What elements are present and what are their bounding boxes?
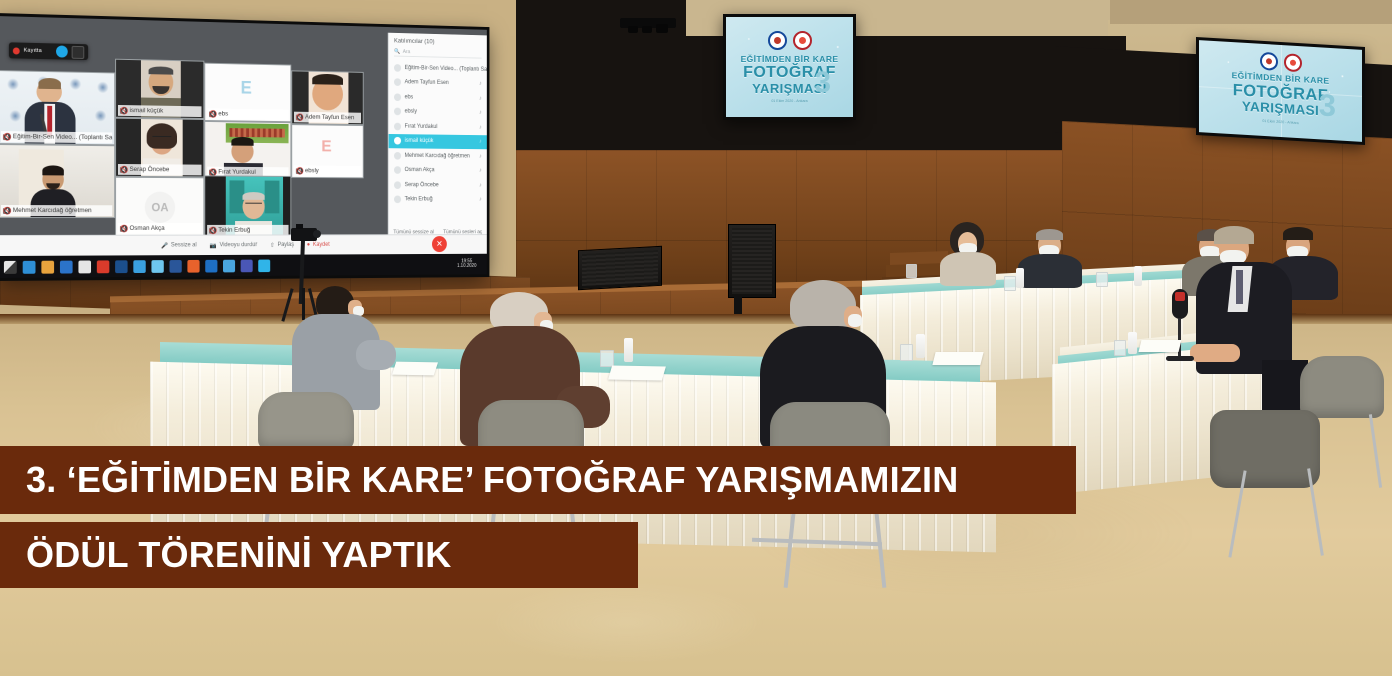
participant-name: ismail küçük [405, 138, 434, 144]
necktie [1236, 270, 1243, 304]
water-bottle [624, 338, 633, 362]
participant-name: Eğitim-Bir-Sen Video... (Toplantı Sahibi… [405, 65, 487, 73]
taskbar-apps[interactable] [23, 259, 271, 273]
video-tile[interactable]: E ebs 🔇 [204, 63, 291, 123]
hair [1214, 226, 1254, 244]
mute-icon[interactable]: ♪ [479, 168, 482, 174]
microphone-icon: 🎤 [161, 242, 168, 249]
wall-display-projector-screen: EĞİTİMDEN BİR KARE FOTOĞRAF YARIŞMASI 3 … [726, 17, 853, 117]
edge-dev-icon[interactable] [133, 260, 145, 273]
teams-icon[interactable] [241, 259, 253, 272]
share-icon: ⇧ [270, 242, 275, 249]
ministry-logo-icon [1260, 52, 1278, 71]
record-dot-icon: ● [307, 242, 310, 248]
participant-name: Fırat Yurdakul [405, 124, 438, 130]
mute-icon: 🔇 [296, 113, 304, 121]
participant-name: Tekin Erbuğ [405, 197, 433, 203]
wall-display-title-1: FOTOĞRAF [726, 65, 853, 81]
participant-hair [243, 192, 265, 200]
wall-display-videowall: EĞİTİMDEN BİR KARE FOTOĞRAF YARIŞMASI 3 … [1196, 37, 1365, 145]
chair [1210, 410, 1320, 488]
mute-icon: 🔇 [296, 167, 304, 175]
participant-row[interactable]: ebsly♪ [389, 104, 487, 120]
mail-icon[interactable] [60, 260, 73, 273]
chair [258, 392, 354, 450]
windows-taskbar: 19:55 1.10.2020 [0, 254, 487, 278]
wall-trim [1110, 0, 1392, 24]
water-glass [900, 344, 913, 361]
mute-icon: 🔇 [120, 106, 128, 114]
stop-video-button[interactable]: 📷 Videoyu durdur [210, 242, 257, 249]
wall-display-subtitle: EĞİTİMDEN BİR KARE [726, 55, 853, 64]
video-tile-name: ebs 🔇 [207, 108, 288, 120]
camera-handle [296, 224, 303, 229]
record-button[interactable]: ● Kaydet [307, 242, 330, 248]
system-clock[interactable]: 19:55 1.10.2020 [457, 259, 480, 269]
clock-date: 1.10.2020 [457, 263, 476, 269]
video-tile[interactable]: E ebsly 🔇 [291, 124, 363, 178]
recording-indicator: Kayıtta [9, 42, 88, 60]
wall-display-projector: EĞİTİMDEN BİR KARE FOTOĞRAF YARIŞMASI 3 … [723, 14, 856, 120]
participant-hair [231, 137, 253, 146]
mute-button[interactable]: 🎤 Sessize al [161, 242, 197, 249]
headline-text-line1: 3. ‘EĞİTİMDEN BİR KARE’ FOTOĞRAF YARIŞMA… [26, 459, 958, 501]
mute-icon: 🔇 [3, 207, 12, 215]
video-tile-name: Eğitim-Bir-Sen Video... (Toplantı Sahibi… [1, 131, 112, 143]
video-tile[interactable]: ismail küçük 🔇 [115, 59, 204, 119]
participant-name: Serap Öncebe [405, 182, 439, 188]
mute-icon[interactable]: ♪ [479, 154, 482, 160]
stage-speaker [578, 246, 662, 290]
participant-row[interactable]: Fırat Yurdakul♪ [389, 119, 487, 135]
windows-start-icon[interactable] [4, 260, 17, 273]
participant-hair [312, 74, 343, 85]
chrome-icon[interactable] [97, 260, 110, 273]
video-tile-name: ebsly 🔇 [294, 165, 361, 176]
water-glass [1096, 272, 1108, 287]
mute-icon[interactable]: ♪ [479, 139, 482, 145]
stage-speaker [728, 224, 776, 298]
videowall-edition-number: 3 [1319, 89, 1336, 121]
end-meeting-button[interactable]: ✕ [432, 236, 447, 252]
avatar [394, 152, 401, 160]
mute-icon[interactable]: ♪ [479, 183, 482, 189]
water-glass [906, 264, 917, 278]
hair [1036, 229, 1063, 240]
mute-icon: 🔇 [3, 133, 12, 141]
union-logo-icon [793, 31, 812, 50]
projection-screen: Eğitim-Bir-Sen Video... (Toplantı Sahibi… [0, 16, 487, 278]
headline-text-line2: ÖDÜL TÖRENİNİ YAPTIK [26, 534, 451, 576]
arm [356, 340, 396, 370]
headline-banner-line1: 3. ‘EĞİTİMDEN BİR KARE’ FOTOĞRAF YARIŞMA… [0, 446, 1076, 514]
document-sheet [392, 362, 438, 376]
avatar-letter: E [241, 78, 258, 100]
avatar: OA [145, 192, 175, 223]
ministry-logo-icon [768, 31, 787, 50]
zoom-toolbar: 🎤 Sessize al 📷 Videoyu durdur ⇧ Paylaş ●… [0, 234, 487, 256]
store-icon[interactable] [78, 260, 91, 273]
participant-name: ebsly [405, 109, 417, 115]
video-tile-name: Mehmet Karcıdağ öğretmen 🔇 [1, 205, 112, 216]
water-glass [1004, 276, 1016, 291]
wall-display-title-2: YARIŞMASI [726, 82, 853, 95]
skype-icon[interactable] [258, 259, 270, 272]
chair [1300, 356, 1384, 418]
glasses-icon [152, 136, 171, 142]
microphone-icon[interactable] [56, 45, 68, 57]
wall-display-date: 01 Ekim 2020 - Ankara [726, 99, 853, 103]
hands [1190, 344, 1240, 362]
camera-lens-icon [313, 230, 321, 238]
mute-icon[interactable]: ♪ [479, 110, 482, 116]
participant-row[interactable]: ismail küçük♪ [389, 134, 487, 150]
firefox-icon[interactable] [187, 259, 199, 272]
avatar [394, 108, 401, 116]
avatar [394, 166, 401, 174]
video-tile-name: Adem Tayfun Esen 🔇 [294, 112, 361, 124]
spotlight-icon [656, 24, 668, 33]
share-button[interactable]: ⇧ Paylaş [270, 242, 294, 249]
participants-search-input[interactable]: 🔍 Ara [394, 47, 482, 59]
avatar [394, 196, 401, 204]
edge-icon[interactable] [23, 260, 36, 273]
participant-name: Mehmet Karcıdağ öğretmen [405, 153, 470, 159]
mute-icon: 🔇 [209, 226, 217, 234]
wall-display-videowall-screen: EĞİTİMDEN BİR KARE FOTOĞRAF YARIŞMASI 3 … [1199, 40, 1362, 142]
zoom-icon[interactable] [223, 259, 235, 272]
video-tile-name: ismail küçük 🔇 [118, 105, 201, 117]
avatar [394, 64, 401, 72]
water-bottle [1016, 268, 1024, 288]
participant-row[interactable]: Serap Öncebe♪ [389, 178, 487, 193]
participant-hair [42, 165, 63, 175]
photoshop-icon[interactable] [115, 260, 127, 273]
mute-icon[interactable]: ♪ [479, 125, 482, 131]
video-tile-name: Serap Öncebe 🔇 [118, 164, 201, 175]
spotlight-icon [628, 26, 638, 33]
union-logo-icon [1284, 53, 1302, 72]
participant-name: ebs [405, 94, 414, 100]
participants-list[interactable]: Eğitim-Bir-Sen Video... (Toplantı Sahibi… [389, 60, 487, 207]
video-tile[interactable]: Serap Öncebe 🔇 [115, 118, 204, 178]
avatar [394, 79, 401, 87]
participant-row[interactable]: ebs♪ [389, 90, 487, 106]
participants-panel: Katılımcılar (10) 🔍 Ara Eğitim-Bir-Sen V… [388, 33, 487, 254]
video-tile[interactable]: OA Osman Akça 🔇 [115, 177, 204, 236]
explorer-icon[interactable] [151, 260, 163, 273]
avatar [394, 122, 401, 130]
wall-display-edition-number: 3 [814, 68, 831, 98]
avatar [394, 137, 401, 145]
video-tile[interactable]: Adem Tayfun Esen 🔇 [291, 70, 363, 125]
document-sheet [608, 366, 666, 381]
participant-row[interactable]: Mehmet Karcıdağ öğretmen♪ [389, 148, 487, 164]
video-tile[interactable]: Eğitim-Bir-Sen Video... (Toplantı Sahibi… [0, 70, 115, 145]
video-tile-name: Osman Akça 🔇 [118, 223, 201, 234]
speaker-hair [38, 78, 60, 89]
water-glass [600, 350, 614, 367]
water-bottle [916, 334, 925, 358]
participant-name: Osman Akça [405, 167, 435, 173]
search-placeholder: Ara [403, 49, 411, 55]
video-tile[interactable]: Fırat Yurdakul 🔇 [204, 121, 291, 180]
video-tile[interactable]: Mehmet Karcıdağ öğretmen 🔇 [0, 144, 115, 218]
recording-label: Kayıtta [24, 48, 42, 54]
participant-row[interactable]: Osman Akça♪ [389, 163, 487, 178]
mute-icon[interactable]: ♪ [479, 96, 482, 102]
hair [1283, 227, 1313, 240]
document-sheet [1139, 340, 1182, 352]
mute-icon: 🔇 [209, 110, 217, 118]
music-icon[interactable] [205, 259, 217, 272]
dark-wall-column [516, 0, 572, 170]
mute-icon[interactable]: ♪ [479, 81, 482, 87]
news-photo-composite: EĞİTİMDEN BİR KARE FOTOĞRAF YARIŞMASI 3 … [0, 0, 1392, 676]
water-glass [1114, 340, 1126, 356]
search-icon: 🔍 [394, 48, 400, 54]
avatar-letter: E [321, 137, 335, 156]
document-sheet [932, 352, 983, 365]
mute-icon: 🔇 [120, 224, 128, 232]
participant-row[interactable]: Tekin Erbuğ♪ [389, 192, 487, 207]
participant-hair [149, 66, 174, 74]
headline-banner-line2: ÖDÜL TÖRENİNİ YAPTIK [0, 522, 638, 588]
participant-name: Adem Tayfun Esen [405, 80, 449, 87]
camera-icon[interactable] [72, 45, 85, 58]
mute-icon[interactable]: ♪ [479, 197, 482, 203]
camera-icon: 📷 [210, 242, 217, 249]
video-tile[interactable]: Tekin Erbuğ 🔇 [204, 175, 291, 237]
mute-icon: 🔇 [120, 165, 128, 173]
zoom-meeting-window: Eğitim-Bir-Sen Video... (Toplantı Sahibi… [0, 16, 487, 278]
water-bottle [1128, 332, 1137, 354]
glasses-icon [245, 203, 262, 209]
record-dot-icon [13, 47, 20, 54]
water-bottle [1134, 266, 1142, 286]
avatar [394, 93, 401, 101]
avatar [394, 181, 401, 189]
word-icon[interactable] [169, 260, 181, 273]
spotlight-icon [642, 26, 652, 33]
tripod-leg [302, 288, 305, 320]
photos-icon[interactable] [41, 260, 54, 273]
